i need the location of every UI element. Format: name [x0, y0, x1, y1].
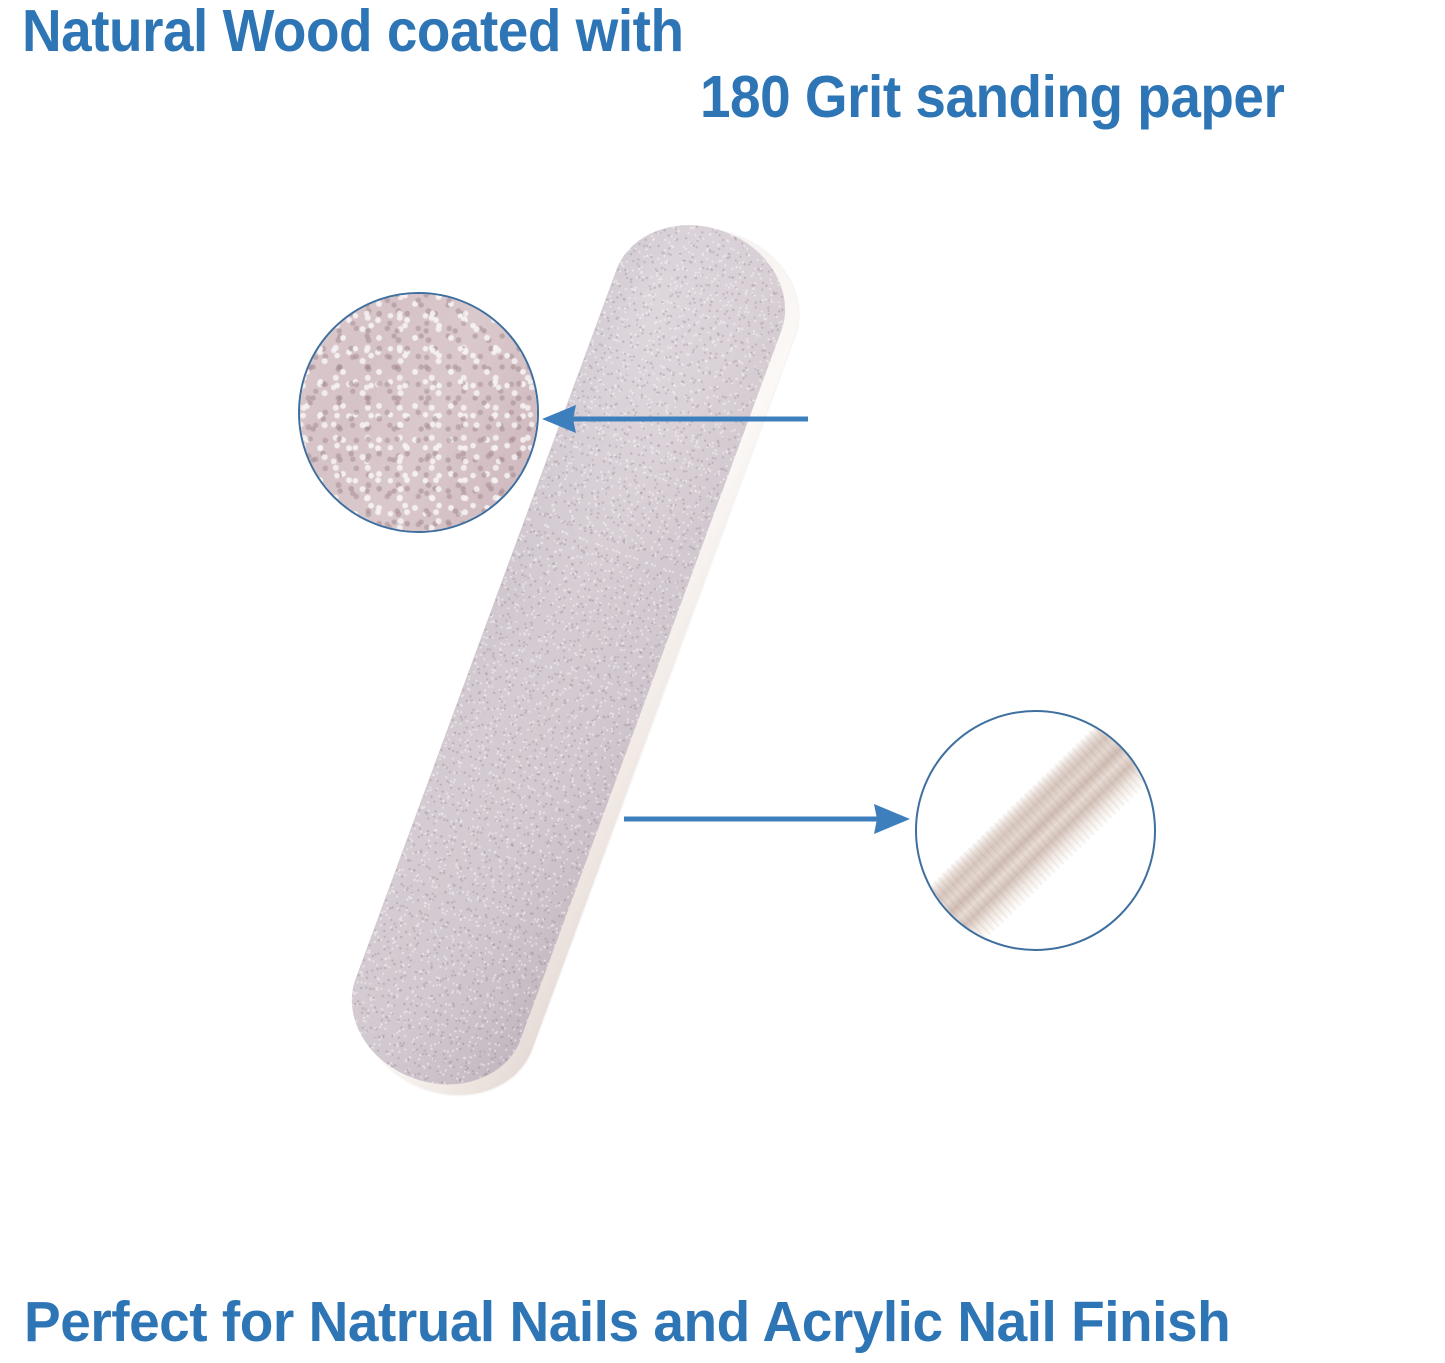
- product-feature-image: Natural Wood coated with 180 Grit sandin…: [0, 0, 1445, 1363]
- wood-grain-lines: [915, 710, 1156, 951]
- sanding-surface-grain-texture: [298, 292, 539, 533]
- headline-line-1: Natural Wood coated with: [22, 2, 684, 61]
- callout-circle-sanding-surface: [298, 292, 539, 533]
- wood-edge-zoom: [915, 710, 1156, 951]
- arrow-right-icon: [622, 798, 912, 840]
- sanding-surface-zoom: [298, 292, 539, 533]
- callout-circle-wood-edge: [915, 710, 1156, 951]
- arrow-left-icon: [540, 398, 810, 440]
- footer-tagline: Perfect for Natrual Nails and Acrylic Na…: [24, 1294, 1230, 1351]
- headline-line-2: 180 Grit sanding paper: [700, 68, 1284, 127]
